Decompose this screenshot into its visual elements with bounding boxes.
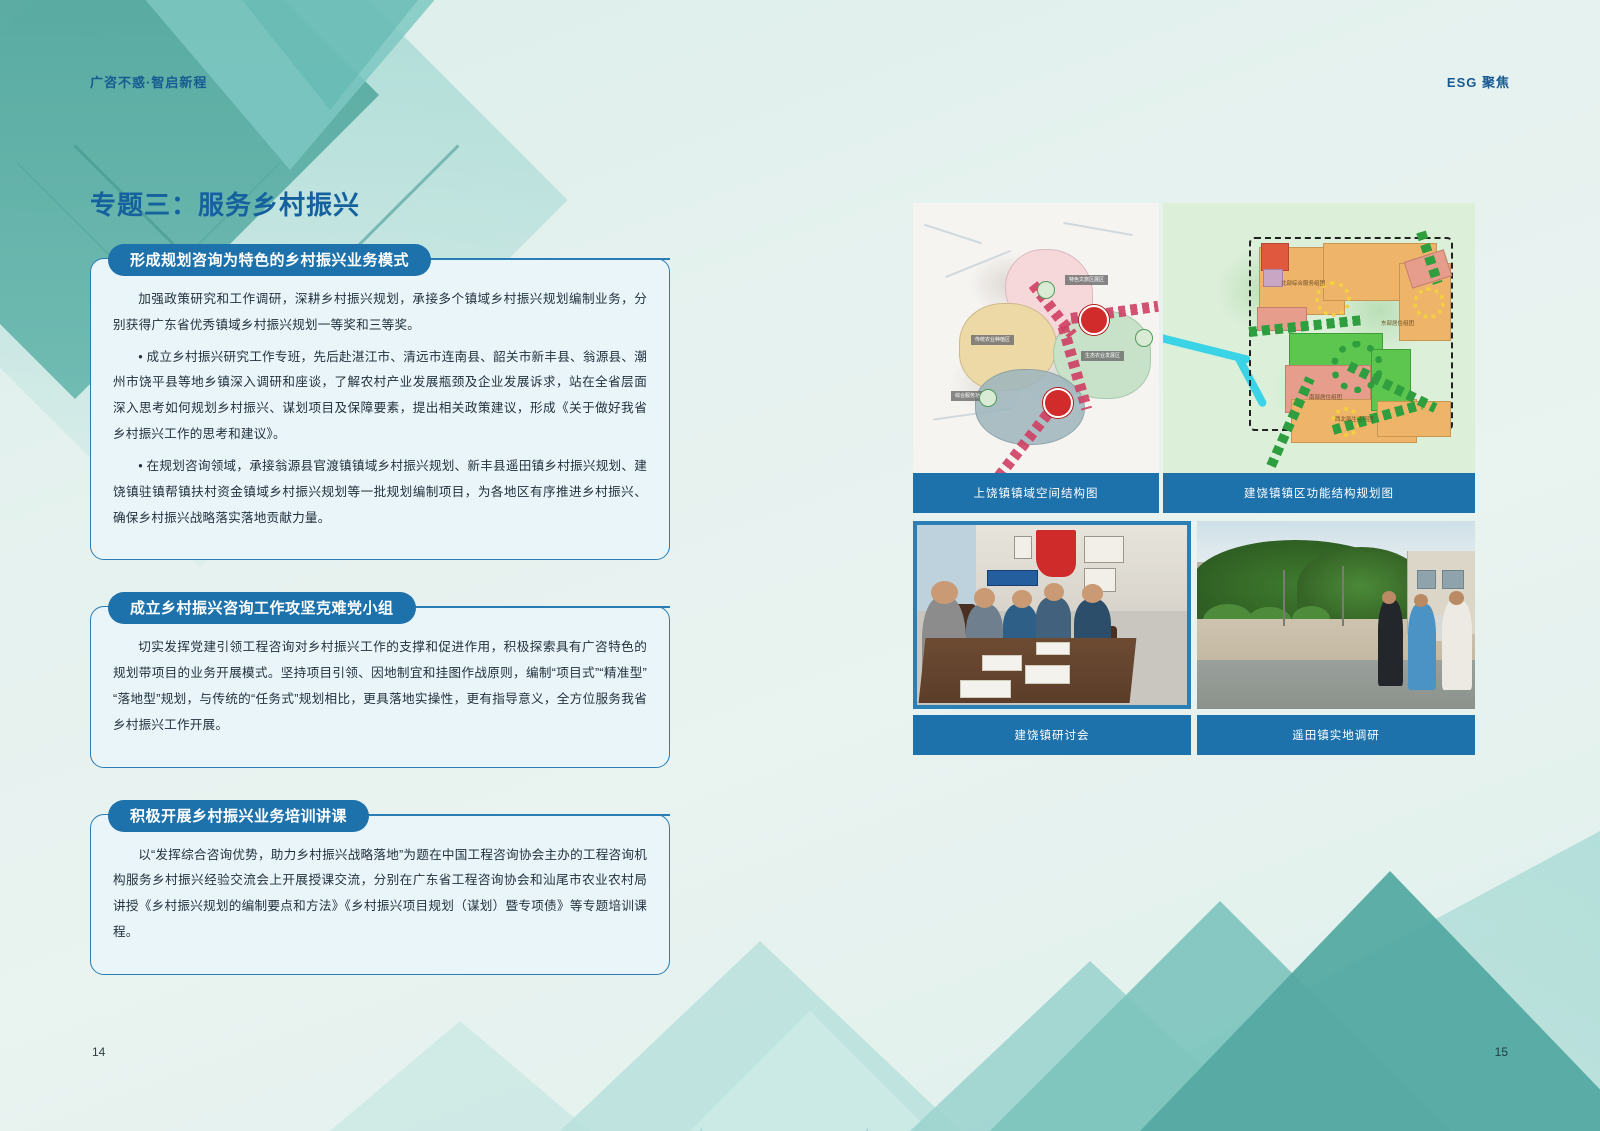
- running-head-left: 广咨不惑·智启新程: [90, 72, 207, 91]
- map-zone-label: 生态农业发展区: [1081, 351, 1124, 361]
- decorative-triangle-mid: [210, 0, 450, 110]
- figure-caption: 遥田镇实地调研: [1197, 715, 1475, 755]
- photo-person-head: [974, 588, 996, 608]
- map-block-label: 南部居住组团: [1309, 393, 1342, 401]
- map-node-town-center: [1079, 305, 1109, 335]
- photo-inner: [917, 525, 1187, 705]
- section-body-3: 以“发挥综合咨询优势，助力乡村振兴战略落地”为题在中国工程咨询协会主办的工程咨询…: [90, 814, 670, 975]
- figure-caption: 建饶镇研讨会: [913, 715, 1191, 755]
- photo-wall-frame: [1014, 536, 1032, 560]
- figure-caption: 上饶镇镇域空间结构图: [913, 473, 1159, 513]
- photo-person-head: [1382, 591, 1396, 604]
- map-node-village: [979, 389, 997, 407]
- photo-document: [960, 680, 1011, 698]
- map-node-town-area: [1043, 388, 1073, 418]
- decorative-mountain-a: [1140, 871, 1600, 1131]
- photo-window: [1442, 570, 1463, 589]
- map-block-label: 东部居住组团: [1381, 319, 1414, 327]
- photo-utility-pole: [1342, 566, 1344, 626]
- section-party-group: 成立乡村振兴咨询工作攻坚克难党小组 切实发挥党建引领工程咨询对乡村振兴工作的支撑…: [90, 592, 670, 767]
- left-text-column: 专题三：服务乡村振兴 形成规划咨询为特色的乡村振兴业务模式 加强政策研究和工作调…: [90, 185, 670, 1007]
- photo-person: [1408, 604, 1436, 690]
- figure-column: 特色文旅区展区 传统农业种植区 生态农业发展区 综合服务功能区: [913, 203, 1475, 755]
- section-title-2: 成立乡村振兴咨询工作攻坚克难党小组: [108, 592, 416, 624]
- map-zone-label: 传统农业种植区: [971, 335, 1014, 345]
- page-number-right: 15: [1495, 1045, 1508, 1059]
- photo-document: [982, 655, 1022, 671]
- photo-person-head: [1012, 590, 1032, 608]
- photo-person-head: [1449, 591, 1464, 605]
- photo-person: [1378, 600, 1403, 686]
- section-title-1: 形成规划咨询为特色的乡村振兴业务模式: [108, 244, 431, 276]
- map-block-mixed: [1263, 269, 1283, 287]
- figure-image: [913, 521, 1191, 709]
- photo-document: [1025, 665, 1070, 683]
- map-zone-label: 特色文旅区展区: [1065, 275, 1108, 285]
- photo-field-artwork: [1197, 521, 1475, 709]
- photo-person-head: [931, 581, 958, 604]
- photo-meeting-artwork: [913, 521, 1191, 709]
- section-business-model: 形成规划咨询为特色的乡村振兴业务模式 加强政策研究和工作调研，深耕乡村振兴规划，…: [90, 244, 670, 560]
- running-head-right: ESG 聚焦: [1447, 72, 1510, 91]
- photo-window: [1417, 570, 1436, 589]
- section-header-1: 形成规划咨询为特色的乡村振兴业务模式: [108, 244, 670, 272]
- photo-wall-frame: [1084, 536, 1124, 563]
- figure-shangrao-spatial-map: 特色文旅区展区 传统农业种植区 生态农业发展区 综合服务功能区: [913, 203, 1159, 513]
- figure-row-maps: 特色文旅区展区 传统农业种植区 生态农业发展区 综合服务功能区: [913, 203, 1475, 513]
- figure-image: [1197, 521, 1475, 709]
- paragraph: 以“发挥综合咨询优势，助力乡村振兴战略落地”为题在中国工程咨询协会主办的工程咨询…: [113, 843, 647, 946]
- section-body-1: 加强政策研究和工作调研，深耕乡村振兴规划，承接多个镇域乡村振兴规划编制业务，分别…: [90, 258, 670, 560]
- figure-caption: 建饶镇镇区功能结构规划图: [1163, 473, 1475, 513]
- map-block-label: 北部综合服务组团: [1281, 279, 1325, 287]
- section-header-2: 成立乡村振兴咨询工作攻坚克难党小组: [108, 592, 670, 620]
- photo-blue-sign: [987, 570, 1038, 586]
- figure-image: 特色文旅区展区 传统农业种植区 生态农业发展区 综合服务功能区: [913, 203, 1159, 473]
- page-number-left: 14: [92, 1045, 105, 1059]
- paragraph: • 成立乡村振兴研究工作专班，先后赴湛江市、清远市连南县、韶关市新丰县、翁源县、…: [113, 345, 647, 448]
- figure-jianrao-function-map: 北部综合服务组团 东部居住组团 南部居住组团 西北部生活组团 建饶镇镇区功能结构…: [1163, 203, 1475, 513]
- photo-utility-pole: [1283, 570, 1285, 626]
- map-block-label: 西北部生活组团: [1335, 415, 1374, 423]
- photo-person: [1442, 600, 1473, 690]
- paragraph: 切实发挥党建引领工程咨询对乡村振兴工作的支撑和促进作用，积极探索具有广咨特色的规…: [113, 635, 647, 738]
- photo-person-head: [1044, 583, 1064, 601]
- section-title-3: 积极开展乡村振兴业务培训讲课: [108, 800, 369, 832]
- section-header-3: 积极开展乡村振兴业务培训讲课: [108, 800, 670, 828]
- magazine-spread: 广咨不惑·智启新程 ESG 聚焦 专题三：服务乡村振兴 形成规划咨询为特色的乡村…: [0, 0, 1600, 1131]
- decorative-mountain-f: [330, 1021, 590, 1131]
- map-block-public: [1261, 243, 1289, 271]
- section-body-2: 切实发挥党建引领工程咨询对乡村振兴工作的支撑和促进作用，积极探索具有广咨特色的规…: [90, 606, 670, 767]
- section-training: 积极开展乡村振兴业务培训讲课 以“发挥综合咨询优势，助力乡村振兴战略落地”为题在…: [90, 800, 670, 975]
- map-node-village: [1135, 329, 1153, 347]
- photo-red-banner: [1036, 530, 1077, 577]
- figure-jianrao-seminar-photo: 建饶镇研讨会: [913, 521, 1191, 755]
- page-title: 专题三：服务乡村振兴: [90, 185, 670, 222]
- map-node-ring: [1413, 287, 1445, 319]
- figure-row-photos: 建饶镇研讨会: [913, 521, 1475, 755]
- planning-map-artwork: 特色文旅区展区 传统农业种植区 生态农业发展区 综合服务功能区: [913, 203, 1159, 473]
- photo-document: [1036, 642, 1070, 655]
- paragraph: 加强政策研究和工作调研，深耕乡村振兴规划，承接多个镇域乡村振兴规划编制业务，分别…: [113, 287, 647, 339]
- planning-map-artwork: 北部综合服务组团 东部居住组团 南部居住组团 西北部生活组团: [1163, 203, 1475, 473]
- figure-yaotian-field-survey-photo: 遥田镇实地调研: [1197, 521, 1475, 755]
- paragraph: • 在规划咨询领域，承接翁源县官渡镇镇域乡村振兴规划、新丰县遥田镇乡村振兴规划、…: [113, 454, 647, 531]
- map-node-village: [1037, 281, 1055, 299]
- figure-image: 北部综合服务组团 东部居住组团 南部居住组团 西北部生活组团: [1163, 203, 1475, 473]
